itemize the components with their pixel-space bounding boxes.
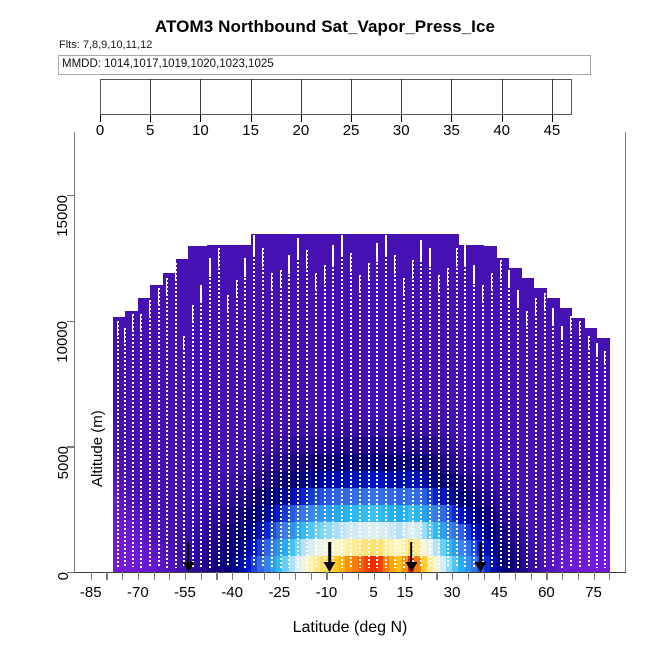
flight-track-cap — [482, 285, 483, 302]
flight-track — [535, 298, 537, 568]
flight-track-cap — [297, 238, 298, 258]
flight-track-cap — [456, 248, 457, 267]
x-axis-tick — [138, 572, 139, 580]
x-axis-tick — [232, 572, 233, 580]
flight-track — [368, 263, 370, 568]
flight-track — [376, 243, 378, 568]
flight-track — [579, 321, 581, 569]
flight-track-cap — [288, 255, 289, 274]
flight-track — [315, 273, 317, 568]
flight-track-cap — [149, 300, 150, 316]
x-axis-tick — [326, 572, 327, 580]
flight-track — [561, 326, 563, 568]
flight-track-cap — [117, 321, 118, 336]
flight-track-cap — [429, 248, 430, 267]
flight-track — [447, 268, 449, 568]
flight-track-cap — [332, 245, 333, 265]
x-axis-tick — [185, 572, 186, 580]
flight-track-cap — [158, 288, 159, 305]
flight-track-cap — [280, 270, 281, 288]
flight-track — [526, 311, 528, 568]
flight-track-cap — [596, 343, 597, 357]
flight-track-cap — [124, 328, 125, 343]
flights-label: Flts: 7,8,9,10,11,12 — [59, 39, 152, 51]
flight-track-cap — [412, 260, 413, 279]
arrow-head — [324, 562, 336, 572]
x-axis-tick — [342, 572, 343, 580]
flight-track-cap — [473, 265, 474, 283]
flight-track-cap — [517, 290, 518, 307]
x-axis-tick — [405, 572, 406, 580]
flight-track-cap — [132, 314, 133, 329]
flight-track — [236, 280, 238, 568]
x-axis-tick — [279, 572, 280, 580]
colorbar-separator — [251, 79, 252, 115]
flight-track — [166, 278, 168, 568]
x-axis-tick-label: 75 — [585, 584, 602, 601]
latitude-marker-arrow — [405, 542, 418, 572]
x-axis-tick — [122, 572, 123, 580]
arrow-head — [474, 562, 486, 572]
flight-track — [288, 255, 290, 568]
x-axis-tick-label: -70 — [127, 584, 149, 601]
flight-track — [192, 305, 194, 567]
y-axis-tick-label: 5000 — [55, 446, 72, 479]
flight-track — [218, 248, 220, 568]
flight-track — [473, 265, 475, 567]
colorbar-separator — [552, 79, 553, 115]
flight-track-cap — [394, 255, 395, 274]
flight-track-cap — [464, 245, 465, 265]
page-title: ATOM3 Northbound Sat_Vapor_Press_Ice — [0, 17, 650, 37]
x-axis-tick — [169, 572, 170, 580]
flight-track-cap — [350, 253, 351, 272]
x-axis-title: Latitude (deg N) — [75, 619, 625, 637]
colorbar-separator — [301, 79, 302, 115]
arrow-head — [405, 562, 417, 572]
x-axis-tick — [452, 572, 453, 580]
x-axis-tick — [609, 572, 610, 580]
flight-track-cap — [175, 263, 176, 282]
flight-track — [500, 260, 502, 568]
colorbar-separator — [451, 79, 452, 115]
colorbar-tick — [451, 115, 452, 122]
colorbar-separator — [200, 79, 201, 115]
flight-track — [508, 270, 510, 568]
flight-track-cap — [500, 260, 501, 279]
flight-track-cap — [579, 321, 580, 336]
x-axis-tick — [468, 572, 469, 580]
flight-track — [491, 273, 493, 568]
flight-track-cap — [552, 308, 553, 324]
flight-track — [544, 293, 546, 568]
arrow-shaft — [410, 542, 413, 564]
y-axis-tick-label: 15000 — [55, 195, 72, 237]
flight-track — [438, 275, 440, 567]
x-axis-tick — [499, 572, 500, 580]
x-axis-tick — [562, 572, 563, 580]
flight-track — [324, 265, 326, 568]
flight-track-cap — [166, 278, 167, 296]
flight-track — [175, 263, 177, 568]
flight-track-cap — [403, 278, 404, 296]
flight-track — [244, 258, 246, 569]
flight-track — [124, 328, 126, 567]
flight-track-cap — [359, 275, 360, 293]
x-axis-line — [74, 572, 626, 573]
flight-track — [385, 235, 387, 568]
flight-track — [341, 235, 343, 568]
x-axis-tick-label: -85 — [80, 584, 102, 601]
flight-track-cap — [236, 280, 237, 297]
y-axis-title: Altitude (m) — [89, 410, 106, 487]
colorbar-separator — [150, 79, 151, 115]
colorbar: 051015202530354045 — [100, 79, 572, 115]
flight-track — [596, 343, 598, 568]
x-axis-tick — [295, 572, 296, 580]
x-axis-tick-label: 30 — [444, 584, 461, 601]
flight-track-cap — [341, 235, 342, 255]
x-axis-tick-label: 5 — [369, 584, 377, 601]
x-axis-tick-label: -40 — [221, 584, 243, 601]
flight-track — [456, 248, 458, 569]
flight-track — [420, 240, 422, 568]
colorbar-tick — [552, 115, 553, 122]
flight-track — [306, 250, 308, 568]
flight-track — [262, 248, 264, 568]
flight-track-cap — [244, 258, 245, 277]
latitude-marker-arrow — [323, 542, 336, 572]
flight-track-cap — [315, 273, 316, 291]
flight-track-cap — [253, 235, 254, 255]
flight-track-cap — [324, 265, 325, 283]
arrow-shaft — [328, 542, 331, 564]
colorbar-tick — [200, 115, 201, 122]
flight-track-cap — [376, 243, 377, 263]
latitude-marker-arrow — [474, 542, 487, 572]
colorbar-tick — [401, 115, 402, 122]
flight-track-cap — [508, 270, 509, 288]
flight-track — [297, 238, 299, 569]
x-axis-tick — [484, 572, 485, 580]
x-axis-tick — [264, 572, 265, 580]
flight-track — [227, 295, 229, 567]
flight-track — [253, 235, 255, 567]
flight-track-cap — [227, 295, 228, 312]
flight-track — [271, 273, 273, 568]
y-axis-tick-label: 10000 — [55, 321, 72, 363]
flight-track — [588, 336, 590, 568]
flight-track-cap — [368, 263, 369, 282]
flight-track — [117, 321, 119, 569]
flight-track-cap — [306, 250, 307, 269]
flight-track-cap — [491, 273, 492, 291]
flight-track — [482, 285, 484, 568]
x-axis-tick-label: -55 — [174, 584, 196, 601]
x-axis-tick — [106, 572, 107, 580]
x-axis-tick — [515, 572, 516, 580]
flight-track-cap — [385, 235, 386, 255]
flight-track — [140, 314, 142, 568]
flight-track — [412, 260, 414, 568]
colorbar-tick — [301, 115, 302, 122]
colorbar-tick — [100, 115, 101, 122]
flight-track — [604, 351, 606, 568]
flight-track-cap — [588, 336, 589, 350]
flight-track — [464, 245, 466, 568]
x-axis-tick-label: 60 — [538, 584, 555, 601]
flight-track-cap — [561, 326, 562, 341]
dates-label: MMDD: 1014,1017,1019,1020,1023,1025 — [62, 58, 274, 70]
x-axis-tick-label: 45 — [491, 584, 508, 601]
x-axis-tick — [154, 572, 155, 580]
x-axis-tick — [436, 572, 437, 580]
x-axis-tick — [201, 572, 202, 580]
x-axis-tick — [216, 572, 217, 580]
arrow-shaft — [479, 542, 482, 564]
right-axis-line — [625, 132, 626, 572]
x-axis-tick — [421, 572, 422, 580]
x-axis-tick — [578, 572, 579, 580]
flight-track-cap — [570, 316, 571, 331]
flight-track — [403, 278, 405, 568]
flight-track-cap — [544, 293, 545, 310]
colorbar-tick — [251, 115, 252, 122]
arrow-shaft — [187, 542, 190, 564]
latitude-marker-arrow — [182, 542, 195, 572]
plot-area: 050001000015000 -85-70-55-40-25-10515304… — [75, 132, 625, 572]
flight-track-cap — [447, 268, 448, 286]
flight-track — [280, 270, 282, 568]
flight-track — [359, 275, 361, 568]
flight-track-cap — [262, 248, 263, 267]
colorbar-tick — [502, 115, 503, 122]
colorbar-separator — [401, 79, 402, 115]
flight-track — [394, 255, 396, 568]
arrow-head — [182, 562, 194, 572]
flight-track-cap — [200, 285, 201, 302]
x-axis-tick — [546, 572, 547, 580]
x-axis-tick — [389, 572, 390, 580]
x-axis-tick-label: 15 — [397, 584, 414, 601]
flight-track-cap — [535, 298, 536, 314]
colorbar-tick — [351, 115, 352, 122]
x-axis-tick-label: -25 — [268, 584, 290, 601]
colorbar-tick — [150, 115, 151, 122]
x-axis-tick — [531, 572, 532, 580]
flight-track-cap — [192, 305, 193, 321]
x-axis-tick — [358, 572, 359, 580]
flight-track — [350, 253, 352, 568]
flight-track — [132, 314, 134, 567]
x-axis-tick — [248, 572, 249, 580]
flight-track-cap — [271, 273, 272, 291]
heatmap-canvas — [75, 132, 625, 572]
flight-track — [570, 316, 572, 568]
flight-track-cap — [183, 336, 184, 350]
colorbar-separator — [502, 79, 503, 115]
figure-root: ATOM3 Northbound Sat_Vapor_Press_Ice Flt… — [0, 0, 650, 650]
flight-track — [552, 308, 554, 568]
flight-track-cap — [420, 240, 421, 260]
colorbar-separators — [100, 79, 572, 115]
flight-track — [158, 288, 160, 568]
colorbar-separator — [351, 79, 352, 115]
x-axis-tick — [594, 572, 595, 580]
flight-track-cap — [438, 275, 439, 293]
x-axis-tick — [91, 572, 92, 580]
flight-track — [200, 285, 202, 568]
flight-track — [429, 248, 431, 569]
y-axis-tick-label: 0 — [55, 572, 72, 580]
flight-track-cap — [209, 258, 210, 277]
x-axis-tick-label: -10 — [316, 584, 338, 601]
flight-track — [183, 336, 185, 567]
heatmap-cell — [603, 338, 610, 350]
flight-track — [517, 290, 519, 567]
flight-track-cap — [218, 248, 219, 267]
x-axis-tick — [374, 572, 375, 580]
flight-track — [332, 245, 334, 568]
flight-track — [209, 258, 211, 569]
flight-track-cap — [526, 311, 527, 327]
flight-track-cap — [140, 314, 141, 329]
flight-track-cap — [604, 351, 605, 364]
x-axis-tick — [311, 572, 312, 580]
flight-track — [149, 300, 151, 567]
y-axis-line — [74, 132, 75, 572]
